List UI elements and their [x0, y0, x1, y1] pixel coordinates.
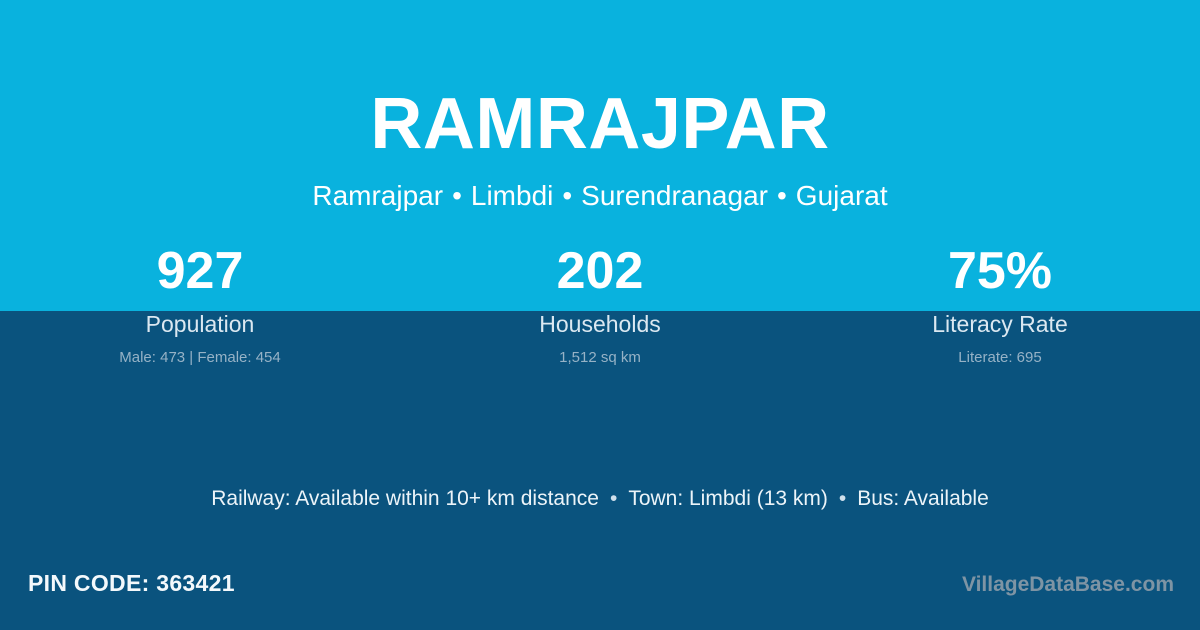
breadcrumb-item-1[interactable]: Limbdi [471, 180, 553, 211]
stat-label: Population [0, 313, 400, 336]
stat-value: 927 [0, 245, 400, 301]
village-info-card: RAMRAJPAR Ramrajpar•Limbdi•Surendranagar… [0, 0, 1200, 630]
stat-card-households: 202Households1,512 sq km [400, 245, 800, 365]
stat-sublabel: Literate: 695 [800, 350, 1200, 365]
card-footer: PIN CODE: 363421 VillageDataBase.com [0, 558, 1200, 630]
infrastructure-separator: • [828, 487, 857, 510]
infrastructure-summary: Railway: Available within 10+ km distanc… [0, 488, 1200, 509]
breadcrumb-separator: • [553, 180, 581, 211]
stat-label: Literacy Rate [800, 313, 1200, 336]
breadcrumb: Ramrajpar•Limbdi•Surendranagar•Gujarat [0, 160, 1200, 210]
breadcrumb-item-2[interactable]: Surendranagar [581, 180, 768, 211]
stat-sublabel: Male: 473 | Female: 454 [0, 350, 400, 365]
stat-label: Households [400, 313, 800, 336]
stat-value: 202 [400, 245, 800, 301]
page-title: RAMRAJPAR [0, 0, 1200, 160]
stat-sublabel: 1,512 sq km [400, 350, 800, 365]
infrastructure-item-2: Bus: Available [857, 487, 989, 510]
breadcrumb-item-0[interactable]: Ramrajpar [312, 180, 443, 211]
stat-value: 75% [800, 245, 1200, 301]
breadcrumb-separator: • [443, 180, 471, 211]
infrastructure-item-0: Railway: Available within 10+ km distanc… [211, 487, 599, 510]
infrastructure-item-1: Town: Limbdi (13 km) [628, 487, 828, 510]
stat-card-population: 927PopulationMale: 473 | Female: 454 [0, 245, 400, 365]
stat-card-literacy-rate: 75%Literacy RateLiterate: 695 [800, 245, 1200, 365]
site-branding: VillageDataBase.com [962, 574, 1174, 595]
statistics-row: 927PopulationMale: 473 | Female: 454202H… [0, 245, 1200, 365]
breadcrumb-item-3[interactable]: Gujarat [796, 180, 888, 211]
card-header: RAMRAJPAR Ramrajpar•Limbdi•Surendranagar… [0, 0, 1200, 210]
pin-code-label: PIN CODE: 363421 [28, 572, 235, 595]
breadcrumb-separator: • [768, 180, 796, 211]
infrastructure-separator: • [599, 487, 628, 510]
